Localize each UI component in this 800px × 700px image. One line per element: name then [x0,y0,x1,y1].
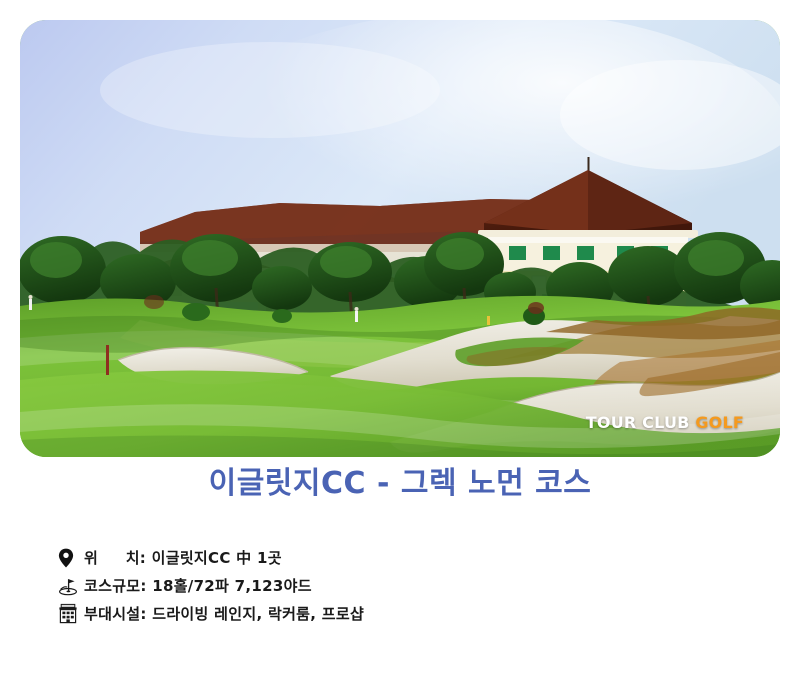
location-pin-icon [58,546,84,570]
page-title: 이글릿지CC - 그렉 노먼 코스 [0,466,800,502]
detail-text-location: 위 치: 이글릿지CC 中 1곳 [84,546,282,570]
golf-course-photo: TOUR CLUB GOLF [20,20,780,457]
detail-row-location: 위 치: 이글릿지CC 中 1곳 [58,544,758,571]
detail-text-facilities: 부대시설: 드라이빙 레인지, 락커룸, 프로샵 [84,602,364,626]
detail-row-facilities: 부대시설: 드라이빙 레인지, 락커룸, 프로샵 [58,600,758,627]
tour-club-golf-watermark: TOUR CLUB GOLF [586,415,744,431]
golf-course-card: TOUR CLUB GOLF 이글릿지CC - 그렉 노먼 코스 위 치: 이글… [0,0,800,700]
detail-row-course-size: 코스규모: 18홀/72파 7,123야드 [58,572,758,599]
watermark-accent-text: GOLF [695,413,744,432]
watermark-primary-text: TOUR CLUB [586,413,690,432]
hotel-building-icon [58,602,84,626]
golf-flag-icon [58,574,84,598]
course-details-list: 위 치: 이글릿지CC 中 1곳 코스규모: 18홀/72파 7,123야드 [58,544,758,628]
golf-course-illustration [20,20,780,457]
detail-text-course-size: 코스규모: 18홀/72파 7,123야드 [84,574,312,598]
